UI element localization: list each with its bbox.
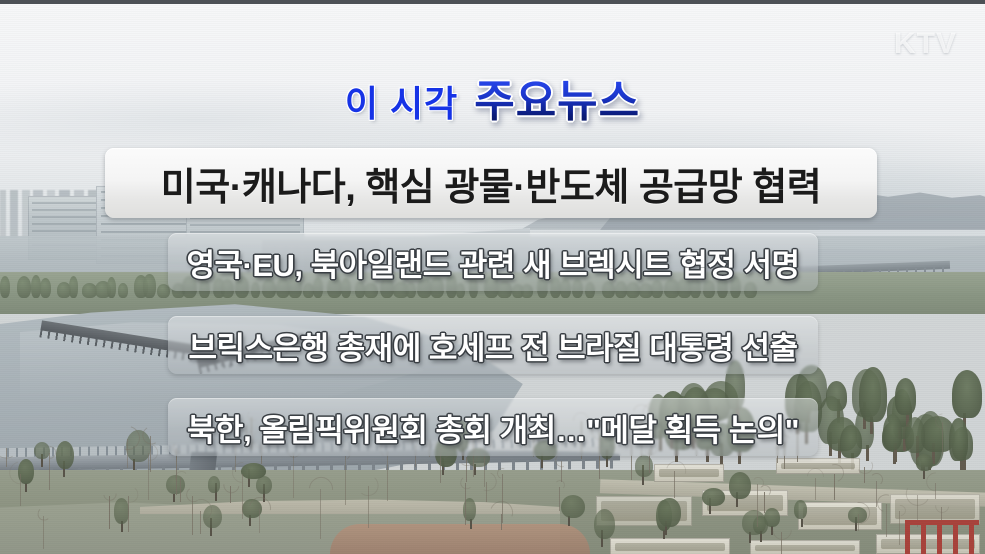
headline-item-primary[interactable]: 미국·캐나다, 핵심 광물·반도체 공급망 협력 bbox=[105, 148, 877, 218]
broadcast-screen: KTV 이 시각주요뉴스 미국·캐나다, 핵심 광물·반도체 공급망 협력 영국… bbox=[0, 0, 985, 554]
headline-text: 미국·캐나다, 핵심 광물·반도체 공급망 협력 bbox=[161, 156, 821, 211]
headline-text: 영국·EU, 북아일랜드 관련 새 브렉시트 협정 서명 bbox=[186, 240, 799, 285]
headline-list: 미국·캐나다, 핵심 광물·반도체 공급망 협력 영국·EU, 북아일랜드 관련… bbox=[0, 0, 985, 554]
headline-item-1[interactable]: 영국·EU, 북아일랜드 관련 새 브렉시트 협정 서명 bbox=[168, 233, 818, 291]
headline-item-3[interactable]: 북한, 올림픽위원회 총회 개최…"메달 획득 논의" bbox=[168, 398, 818, 456]
headline-item-2[interactable]: 브릭스은행 총재에 호세프 전 브라질 대통령 선출 bbox=[168, 316, 818, 374]
headline-text: 브릭스은행 총재에 호세프 전 브라질 대통령 선출 bbox=[188, 323, 797, 368]
headline-text: 북한, 올림픽위원회 총회 개최…"메달 획득 논의" bbox=[187, 405, 799, 450]
